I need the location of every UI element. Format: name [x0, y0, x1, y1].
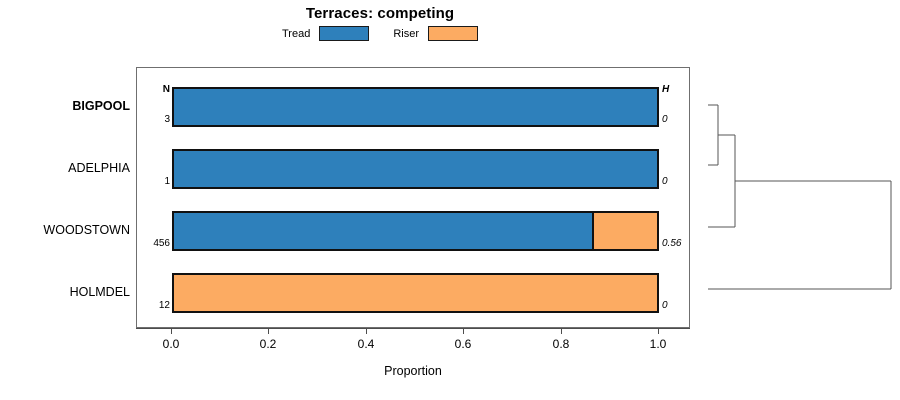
bar-segment-riser [594, 213, 657, 249]
legend-item-riser[interactable]: Riser [393, 26, 478, 41]
bar-segment-tread [174, 213, 592, 249]
legend-swatch-icon-tread [319, 26, 369, 41]
stacked-bar-holmdel[interactable] [172, 273, 659, 313]
legend-item-tread[interactable]: Tread [282, 26, 369, 41]
bar-segment-tread [174, 151, 657, 187]
bar-row-woodstown [137, 211, 691, 251]
dendrogram-svg [690, 67, 900, 328]
x-tick-label-4: 0.8 [531, 337, 591, 351]
bar-row-bigpool [137, 87, 691, 127]
x-axis-title: Proportion [136, 364, 690, 378]
x-tick-mark [366, 328, 367, 334]
n-value-bigpool: 3 [141, 114, 170, 125]
legend-label-tread: Tread [282, 28, 310, 40]
x-tick-mark [561, 328, 562, 334]
dendrogram [690, 67, 900, 328]
n-value-holmdel: 12 [141, 300, 170, 311]
x-tick-mark [268, 328, 269, 334]
row-label-adelphia: ADELPHIA [0, 161, 130, 175]
x-tick-mark [171, 328, 172, 334]
x-axis-line [136, 328, 690, 329]
bar-segment-riser [174, 275, 657, 311]
row-label-bigpool: BIGPOOL [0, 99, 130, 113]
row-label-holmdel: HOLMDEL [0, 285, 130, 299]
bar-segment-tread [174, 89, 657, 125]
chart-figure: Terraces: competing Tread Riser BIGPOOL … [0, 0, 900, 400]
x-tick-label-3: 0.6 [433, 337, 493, 351]
chart-legend: Tread Riser [0, 26, 760, 41]
row-label-woodstown: WOODSTOWN [0, 223, 130, 237]
bar-row-adelphia [137, 149, 691, 189]
n-value-adelphia: 1 [141, 176, 170, 187]
stacked-bar-adelphia[interactable] [172, 149, 659, 189]
x-tick-label-0: 0.0 [141, 337, 201, 351]
stacked-bar-woodstown[interactable] [172, 211, 659, 251]
n-value-woodstown: 456 [141, 238, 170, 249]
x-tick-mark [658, 328, 659, 334]
bar-row-holmdel [137, 273, 691, 313]
legend-label-riser: Riser [393, 28, 419, 40]
x-tick-label-5: 1.0 [628, 337, 688, 351]
plot-panel: N H 3 0 1 0 456 0.56 [136, 67, 690, 328]
legend-swatch-icon-riser [428, 26, 478, 41]
stacked-bar-bigpool[interactable] [172, 87, 659, 127]
x-tick-mark [463, 328, 464, 334]
x-tick-label-1: 0.2 [238, 337, 298, 351]
x-tick-label-2: 0.4 [336, 337, 396, 351]
page-title: Terraces: competing [0, 5, 760, 22]
